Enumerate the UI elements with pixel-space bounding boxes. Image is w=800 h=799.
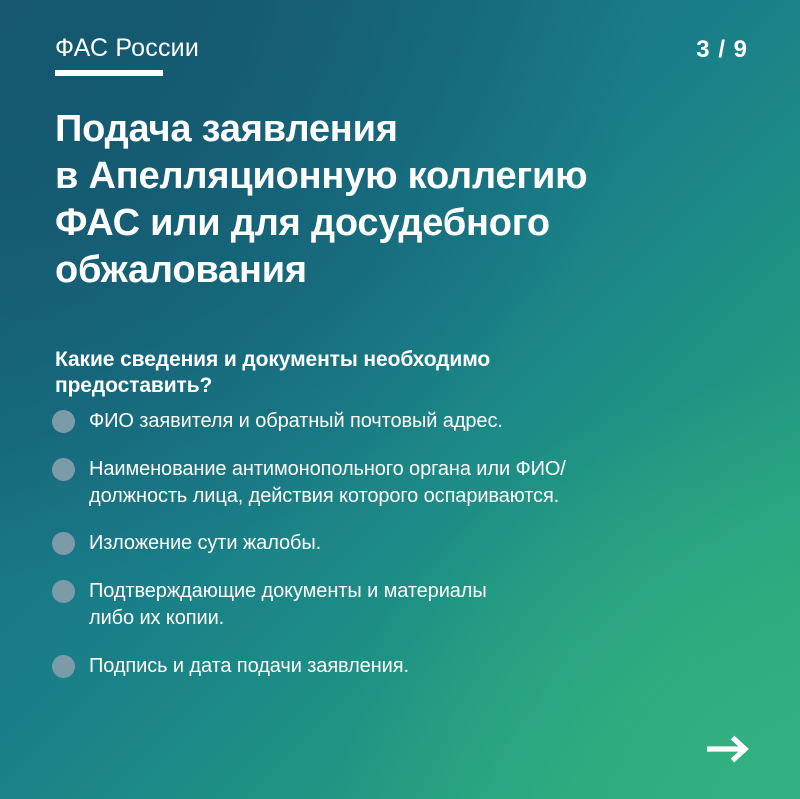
list-item: Подпись и дата подачи заявления. xyxy=(52,653,732,680)
bullet-dot-icon xyxy=(52,580,75,603)
list-item-text: Подпись и дата подачи заявления. xyxy=(89,653,409,680)
title-block: Подача заявления в Апелляционную коллеги… xyxy=(55,106,705,294)
slide-title: Подача заявления в Апелляционную коллеги… xyxy=(55,106,705,294)
brand: ФАС России xyxy=(55,36,199,76)
list-item: Подтверждающие документы и материалы либ… xyxy=(52,578,732,632)
question-heading: Какие сведения и документы необходимо пр… xyxy=(55,347,675,400)
slide-header: ФАС России 3 / 9 xyxy=(0,0,800,100)
list-item-text: Наименование антимонопольного органа или… xyxy=(89,456,566,510)
bullet-list: ФИО заявителя и обратный почтовый адрес.… xyxy=(52,408,732,680)
list-item-text: Подтверждающие документы и материалы либ… xyxy=(89,578,487,632)
bullet-dot-icon xyxy=(52,410,75,433)
next-slide-button[interactable] xyxy=(702,728,754,770)
arrow-right-icon xyxy=(705,734,751,764)
list-item-text: Изложение сути жалобы. xyxy=(89,530,321,557)
list-item: Изложение сути жалобы. xyxy=(52,530,732,557)
list-item: ФИО заявителя и обратный почтовый адрес. xyxy=(52,408,732,435)
list-item: Наименование антимонопольного органа или… xyxy=(52,456,732,510)
list-item-text: ФИО заявителя и обратный почтовый адрес. xyxy=(89,408,503,435)
page-counter: 3 / 9 xyxy=(696,38,748,62)
bullet-dot-icon xyxy=(52,458,75,481)
question-block: Какие сведения и документы необходимо пр… xyxy=(55,347,675,400)
brand-underline-icon xyxy=(55,70,163,76)
bullet-dot-icon xyxy=(52,655,75,678)
brand-name: ФАС России xyxy=(55,36,199,61)
slide-canvas: ФАС России 3 / 9 Подача заявления в Апел… xyxy=(0,0,800,799)
bullet-dot-icon xyxy=(52,532,75,555)
